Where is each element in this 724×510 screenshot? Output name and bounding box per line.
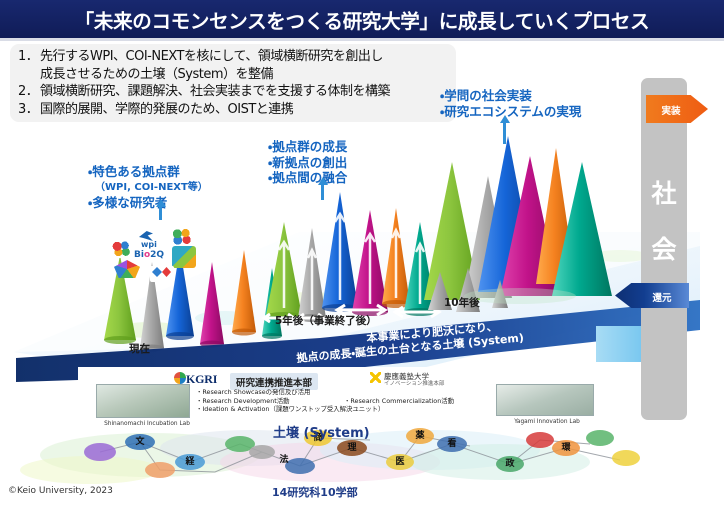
logo-cluster-current: wpi Bio2Q <box>110 228 206 282</box>
society-label-char1: 社 <box>641 166 687 222</box>
network-node-yaku: 薬 <box>406 428 434 444</box>
copyright-notice: ©Keio University, 2023 <box>8 486 113 496</box>
timeline-label-now: 現在 <box>129 341 150 356</box>
annotation-stage1: ・特色ある拠点群 （WPI, COI-NEXT等） ・多様な研究者 <box>88 164 208 211</box>
annotation-stage3-line2: ・研究エコシステムの実現 <box>440 104 581 120</box>
photo-yagami-caption: Yagami Innovation Lab <box>493 419 601 425</box>
activity-4: ・Ideation & Activation（課題ワンストップ受入解決ユニット） <box>196 405 384 414</box>
annotation-stage2-line3: ・拠点間の融合 <box>268 170 347 186</box>
photo-shinanomachi: Shinanomachi Incubation Lab <box>96 384 190 418</box>
network-node-kan2: 環 <box>552 440 580 456</box>
timeline-label-10y: 10年後 <box>444 295 480 310</box>
network-node-sei: 政 <box>496 456 524 472</box>
annotation-stage1-sub: （WPI, COI-NEXT等） <box>88 180 208 196</box>
wpi-logo: wpi <box>136 230 168 252</box>
coi-next-logo-2 <box>170 228 196 246</box>
panel-activity-list: ・Research Showcaseの発信及び活用 ・Research Deve… <box>196 388 384 414</box>
soil-label: 土壌 (System) <box>273 422 370 441</box>
return-arrow-label: 還元 <box>635 290 689 304</box>
photo-shinanomachi-caption: Shinanomachi Incubation Lab <box>93 421 201 427</box>
partner-logo <box>150 266 174 282</box>
implement-arrow-label: 実装 <box>646 103 696 117</box>
network-node-ri: 理 <box>338 440 366 456</box>
coi-next-logo-1 <box>110 240 134 258</box>
annotation-stage2-line2: ・新拠点の創出 <box>268 155 347 171</box>
bio2q-logo: Bio2Q <box>134 250 170 264</box>
cone-cluster-10y <box>424 136 612 312</box>
network-node-kei: 経 <box>176 454 204 470</box>
network-node-ho: 法 <box>270 452 298 468</box>
keio-x-icon <box>370 372 381 383</box>
youth-commons-logo <box>172 246 196 268</box>
kgri-logo-icon <box>174 372 186 384</box>
network-node-bun: 文 <box>126 434 154 450</box>
annotation-stage1-line2: ・多様な研究者 <box>88 195 208 211</box>
timeline-label-5y: 5年後（事業終了後） <box>275 313 377 328</box>
network-node-i: 医 <box>386 454 414 470</box>
annotation-stage3: ・学問の社会実装 ・研究エコシステムの実現 <box>440 88 581 119</box>
network-node-kan: 看 <box>438 436 466 452</box>
keio-dept: イノベーション推進本部 <box>384 379 444 387</box>
society-bar: 社 会 <box>641 78 687 420</box>
photo-yagami: Yagami Innovation Lab <box>496 384 594 416</box>
annotation-stage1-line1: ・特色ある拠点群 <box>88 164 208 180</box>
kgri-label: KGRI <box>186 372 217 387</box>
activity-3: ・Research Commercialization活動 <box>344 397 454 406</box>
annotation-stage2-line1: ・拠点群の成長 <box>268 139 347 155</box>
annotation-stage3-line1: ・学問の社会実装 <box>440 88 581 104</box>
society-label: 社 会 <box>641 166 687 278</box>
annotation-stage2: ・拠点群の成長 ・新拠点の創出 ・拠点間の融合 <box>268 139 347 186</box>
departments-label: 14研究科10学部 <box>272 484 358 500</box>
activity-1: ・Research Showcaseの発信及び活用 <box>196 388 384 397</box>
slide-canvas: 「未来のコモンセンスをつくる研究大学」に成長していくプロセス 1．先行するWPI… <box>0 0 724 510</box>
society-label-char2: 会 <box>641 222 687 278</box>
